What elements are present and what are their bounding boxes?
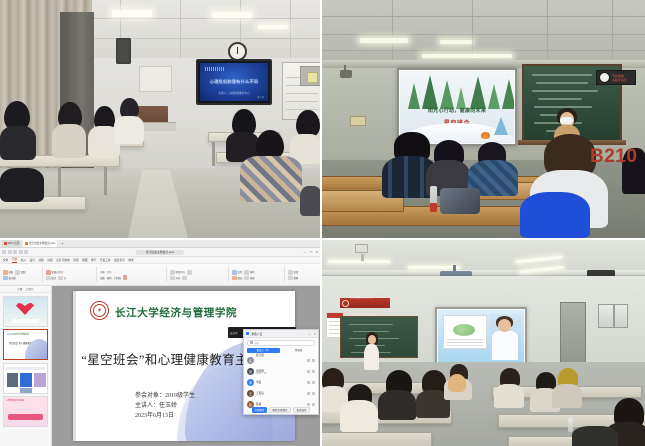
start-slideshow-icon[interactable]	[24, 250, 28, 254]
ribbon-group-editing: 查找 替换	[288, 265, 298, 285]
arrange-button[interactable]: 排列	[244, 270, 254, 275]
tab-animations[interactable]: 动画	[47, 258, 52, 262]
wall-window	[598, 304, 628, 328]
banner-seal-icon	[342, 300, 349, 307]
student-torso	[0, 126, 36, 160]
ribbon-group-clipboard: 粘贴 复制 格式刷	[3, 265, 26, 285]
face-mask-icon	[560, 117, 573, 124]
tree-graphic-icon	[453, 324, 475, 336]
tv-slide-footer: 第 1 页	[257, 95, 264, 99]
copy-button[interactable]: 复制	[15, 270, 25, 275]
tab-section[interactable]: 章节	[91, 258, 96, 262]
wall-speaker-icon	[116, 38, 131, 64]
student-torso-argyle	[240, 156, 302, 202]
slide-meta: 参会对象：2019级学生 主讲人：任玉娇 2023年6月13日	[135, 391, 195, 421]
tab-design[interactable]: 设计	[30, 258, 35, 262]
participant-row[interactable]: 任 任玉娇 主持人、我	[246, 355, 316, 366]
new-slide-button[interactable]: 新建幻灯片	[46, 270, 63, 275]
slide-meta-presenter: 主讲人：任玉娇	[135, 401, 195, 411]
close-button[interactable]: ✕	[315, 250, 318, 254]
numbering-button[interactable]	[187, 270, 192, 275]
tab-review[interactable]: 审阅	[73, 258, 78, 262]
tab-slideshow[interactable]: 幻灯片放映	[56, 258, 69, 262]
teacher	[363, 332, 380, 370]
room-number-label: B210	[590, 146, 644, 172]
tab-member[interactable]: 会员专享	[114, 258, 125, 262]
more-actions-button[interactable]: 更多操作	[293, 407, 310, 413]
meeting-window-header: 参会人员 — ✕	[244, 330, 318, 338]
tab-efficiency[interactable]: 效率	[128, 258, 133, 262]
wps-tab-bar: WPS 首页 星空班会主题会议.pptx +	[0, 240, 320, 248]
panel-classroom-projector-lecture: 阳光心行动，健康向未来 星空班会 经济与管理学院 节约用电 请随手关灯	[322, 0, 645, 238]
lecturer-video-tile	[489, 314, 521, 360]
wall-camera-icon	[340, 70, 352, 78]
shapes-button[interactable]: 形状	[232, 270, 242, 275]
avatar: 张	[247, 368, 254, 375]
participant-name: 王思远	[256, 392, 264, 395]
camera-icon[interactable]	[312, 359, 315, 362]
student-torso	[572, 426, 618, 446]
tab-insert[interactable]: 插入	[21, 258, 26, 262]
window-controls: — ▭ ✕	[304, 250, 318, 254]
student-torso	[52, 124, 86, 158]
slide-thumbnail-panel[interactable]: 大纲 幻灯片 1 2 长江大学经济与管理学院 “星空班会”和心理健康教育主题会议…	[0, 286, 52, 446]
tv-slide-title: 心理危机和我有什么不同	[200, 79, 268, 85]
thumbnail-1[interactable]: 1	[3, 296, 48, 327]
student-torso-blue	[520, 192, 590, 238]
slide-header-dots-icon	[205, 67, 224, 71]
participant-name: 李雯	[256, 381, 261, 384]
student-torso	[114, 116, 144, 144]
wall-poster	[350, 116, 366, 126]
ribbon-tabs: 文件 开始 插入 设计 切换 动画 幻灯片放映 审阅 视图 章节 开发工具 会员…	[0, 257, 320, 264]
security-camera-icon	[355, 244, 368, 253]
thumbnail-3[interactable]: 3	[3, 363, 48, 394]
ribbon: 粘贴 复制 格式刷 新建幻灯片 版式 节 字体	[0, 264, 320, 286]
energy-saving-sign: 节约用电 请随手关灯	[596, 70, 636, 85]
avatar: 任	[247, 357, 254, 364]
new-tab-button[interactable]: +	[59, 241, 65, 246]
clock-icon	[599, 72, 610, 83]
ceiling	[322, 0, 645, 62]
slide-meta-audience: 参会对象：2019级学生	[135, 391, 195, 401]
format-painter-button[interactable]: 格式刷	[3, 276, 16, 281]
undo-icon[interactable]	[8, 250, 12, 254]
wall-panel	[139, 66, 172, 92]
underline-button[interactable]: 下划线	[114, 276, 121, 280]
wall-cabinet	[300, 66, 320, 86]
print-icon[interactable]	[19, 250, 23, 254]
banner-line-1: 心理健康教育宣传月	[350, 296, 373, 299]
ceiling-light	[422, 54, 512, 58]
thumbnail-panel-header: 大纲 幻灯片	[0, 286, 51, 293]
thumbnail-2[interactable]: 2 长江大学经济与管理学院 “星空班会”和心理健康教育主题会议	[3, 329, 48, 360]
mic-icon[interactable]	[307, 359, 310, 362]
mute-all-button[interactable]: 全体静音	[252, 407, 267, 413]
align-button[interactable]: 对齐	[170, 276, 180, 281]
maximize-button[interactable]: ▭	[310, 250, 313, 254]
camera-icon[interactable]	[312, 392, 315, 395]
tab-developer[interactable]: 开发工具	[100, 258, 111, 262]
wps-tab-home[interactable]: WPS 首页	[2, 240, 21, 246]
meeting-footer-actions: 全体静音 解除全体静音 更多操作	[244, 407, 318, 413]
water-bottle	[430, 186, 437, 212]
tab-waiting-room[interactable]: 等候室	[282, 348, 315, 354]
backpack	[440, 188, 480, 214]
campfire-icon	[481, 132, 490, 139]
layout-button[interactable]: 版式	[46, 276, 56, 281]
desk-row	[322, 432, 432, 446]
sign-line-2: 请随手关灯	[612, 78, 627, 82]
slides-tab[interactable]: 幻灯片	[26, 287, 34, 291]
participant-row[interactable]: 王 王思远	[246, 388, 316, 399]
find-button[interactable]: 查找	[288, 270, 298, 275]
thumbnail-2-org: 长江大学经济与管理学院	[7, 333, 29, 336]
ceiling-light	[212, 12, 252, 18]
font-size-box[interactable]: 字号	[107, 270, 112, 274]
student-torso	[552, 384, 582, 408]
wps-tab-document[interactable]: 星空班会主题会议.pptx	[23, 240, 57, 246]
participant-name: 任玉娇	[256, 354, 264, 357]
slide-org-name: 长江大学经济与管理学院	[115, 305, 237, 320]
red-banner: 心理健康教育宣传月 阳光心行动 健康向未来	[340, 298, 390, 308]
search-icon	[250, 341, 253, 344]
tab-file[interactable]: 文件	[3, 258, 8, 262]
panel-powerpoint-window: WPS 首页 星空班会主题会议.pptx + 星空班会主题会议.pptx — ▭…	[0, 240, 320, 446]
paste-button[interactable]: 粘贴	[3, 270, 13, 275]
panel-classroom-tv-lecture: 心理危机和我有什么不同 主讲人：心理健康教育中心 第 1 页	[0, 0, 320, 238]
thumbnail-4[interactable]: 4 心理健康宣传月海报	[3, 396, 48, 427]
redo-icon[interactable]	[13, 250, 17, 254]
ceiling-light	[112, 10, 152, 17]
forest-illustration	[400, 71, 514, 109]
font-color-button[interactable]	[123, 275, 128, 280]
tab-view[interactable]: 视图	[82, 258, 87, 262]
people-icon	[246, 332, 249, 335]
classroom-door	[560, 302, 586, 364]
meeting-participants-window[interactable]: 参会人员 — ✕ 搜索 参会人（5） 等候室 任	[243, 329, 319, 415]
panel-classroom-online-lecture: 心理健康教育宣传月 阳光心行动 健康向未来	[322, 240, 645, 446]
tab-home[interactable]: 开始	[12, 257, 17, 263]
projection-screen	[435, 307, 527, 365]
ribbon-group-slides: 新建幻灯片 版式 节	[46, 265, 66, 285]
section-button[interactable]: 节	[58, 276, 66, 281]
camera-icon[interactable]	[312, 370, 315, 373]
bullets-button[interactable]: 项目符号	[170, 270, 185, 275]
mic-icon[interactable]	[307, 370, 310, 373]
fill-button[interactable]: 填充	[232, 276, 242, 281]
italic-button[interactable]: 倾斜	[107, 276, 112, 280]
outline-tab[interactable]: 大纲	[17, 287, 22, 291]
ceiling-light	[328, 260, 390, 263]
save-icon[interactable]	[2, 250, 6, 254]
avatar: 王	[247, 390, 254, 397]
wps-tab-home-label: WPS 首页	[8, 241, 20, 245]
title-bar: 星空班会主题会议.pptx — ▭ ✕	[0, 248, 320, 257]
bold-button[interactable]: 加粗	[100, 276, 105, 280]
tab-transitions[interactable]: 切换	[39, 258, 44, 262]
ribbon-group-font: 字体 字号 加粗 倾斜 下划线	[100, 265, 127, 285]
minimize-button[interactable]: —	[304, 250, 307, 254]
seal-mark-icon: ✶	[97, 307, 102, 314]
camera-icon[interactable]	[312, 381, 315, 384]
wps-tab-document-label: 星空班会主题会议.pptx	[29, 241, 55, 245]
mic-icon[interactable]	[307, 392, 310, 395]
ribbon-group-drawing: 形状 排列 填充 轮廓	[232, 265, 255, 285]
student-torso	[300, 186, 320, 216]
mic-icon[interactable]	[307, 381, 310, 384]
font-name-box[interactable]: 字体	[100, 270, 105, 274]
mic-icon[interactable]	[307, 403, 310, 406]
unmute-all-button[interactable]: 解除全体静音	[269, 407, 291, 413]
participant-row[interactable]: 李 李雯	[246, 377, 316, 388]
slide-meta-date: 2023年6月13日	[135, 411, 195, 421]
projector-slide-title: 阳光心行动，健康向未来	[400, 107, 514, 114]
participant-name: 张晓明	[256, 370, 264, 373]
student-torso	[378, 390, 416, 420]
quick-access-toolbar	[0, 250, 28, 254]
meeting-close-button[interactable]: ✕	[313, 332, 316, 336]
ceiling-light	[258, 25, 288, 29]
slide-editing-area[interactable]: ✶ 长江大学经济与管理学院 “星空班会”和心理健康教育主题会议 参会对象：201…	[52, 286, 320, 446]
participant-name: 陈静	[256, 403, 261, 406]
participant-list: 任 任玉娇 主持人、我 张 张晓明 李 李雯	[246, 355, 316, 410]
student-torso	[494, 384, 524, 408]
avatar: 李	[247, 379, 254, 386]
meeting-status-label: 会议中	[230, 331, 238, 335]
line-spacing-button[interactable]	[182, 276, 187, 281]
ceiling-light	[360, 38, 408, 43]
document-name: 星空班会主题会议.pptx	[136, 250, 184, 255]
camera-icon[interactable]	[312, 403, 315, 406]
replace-button[interactable]: 替换	[288, 276, 298, 281]
student-torso	[340, 400, 378, 432]
meeting-window-title: 参会人员	[251, 332, 262, 336]
photo-collage: 心理危机和我有什么不同 主讲人：心理健康教育中心 第 1 页	[0, 0, 645, 446]
shared-document	[443, 315, 487, 349]
ceiling-light	[440, 40, 472, 44]
outline-button[interactable]: 轮廓	[244, 276, 254, 281]
student	[448, 374, 466, 392]
ribbon-group-paragraph: 项目符号 对齐	[170, 265, 192, 285]
tv-display: 心理危机和我有什么不同 主讲人：心理健康教育中心 第 1 页	[196, 59, 272, 105]
thumbnail-4-caption: 心理健康宣传月海报	[6, 399, 24, 402]
snow-tree	[494, 117, 508, 135]
university-seal-logo: ✶	[90, 301, 109, 320]
meeting-minimize-button[interactable]: —	[308, 332, 311, 336]
water-bottle	[568, 418, 573, 432]
student-torso	[0, 168, 44, 202]
